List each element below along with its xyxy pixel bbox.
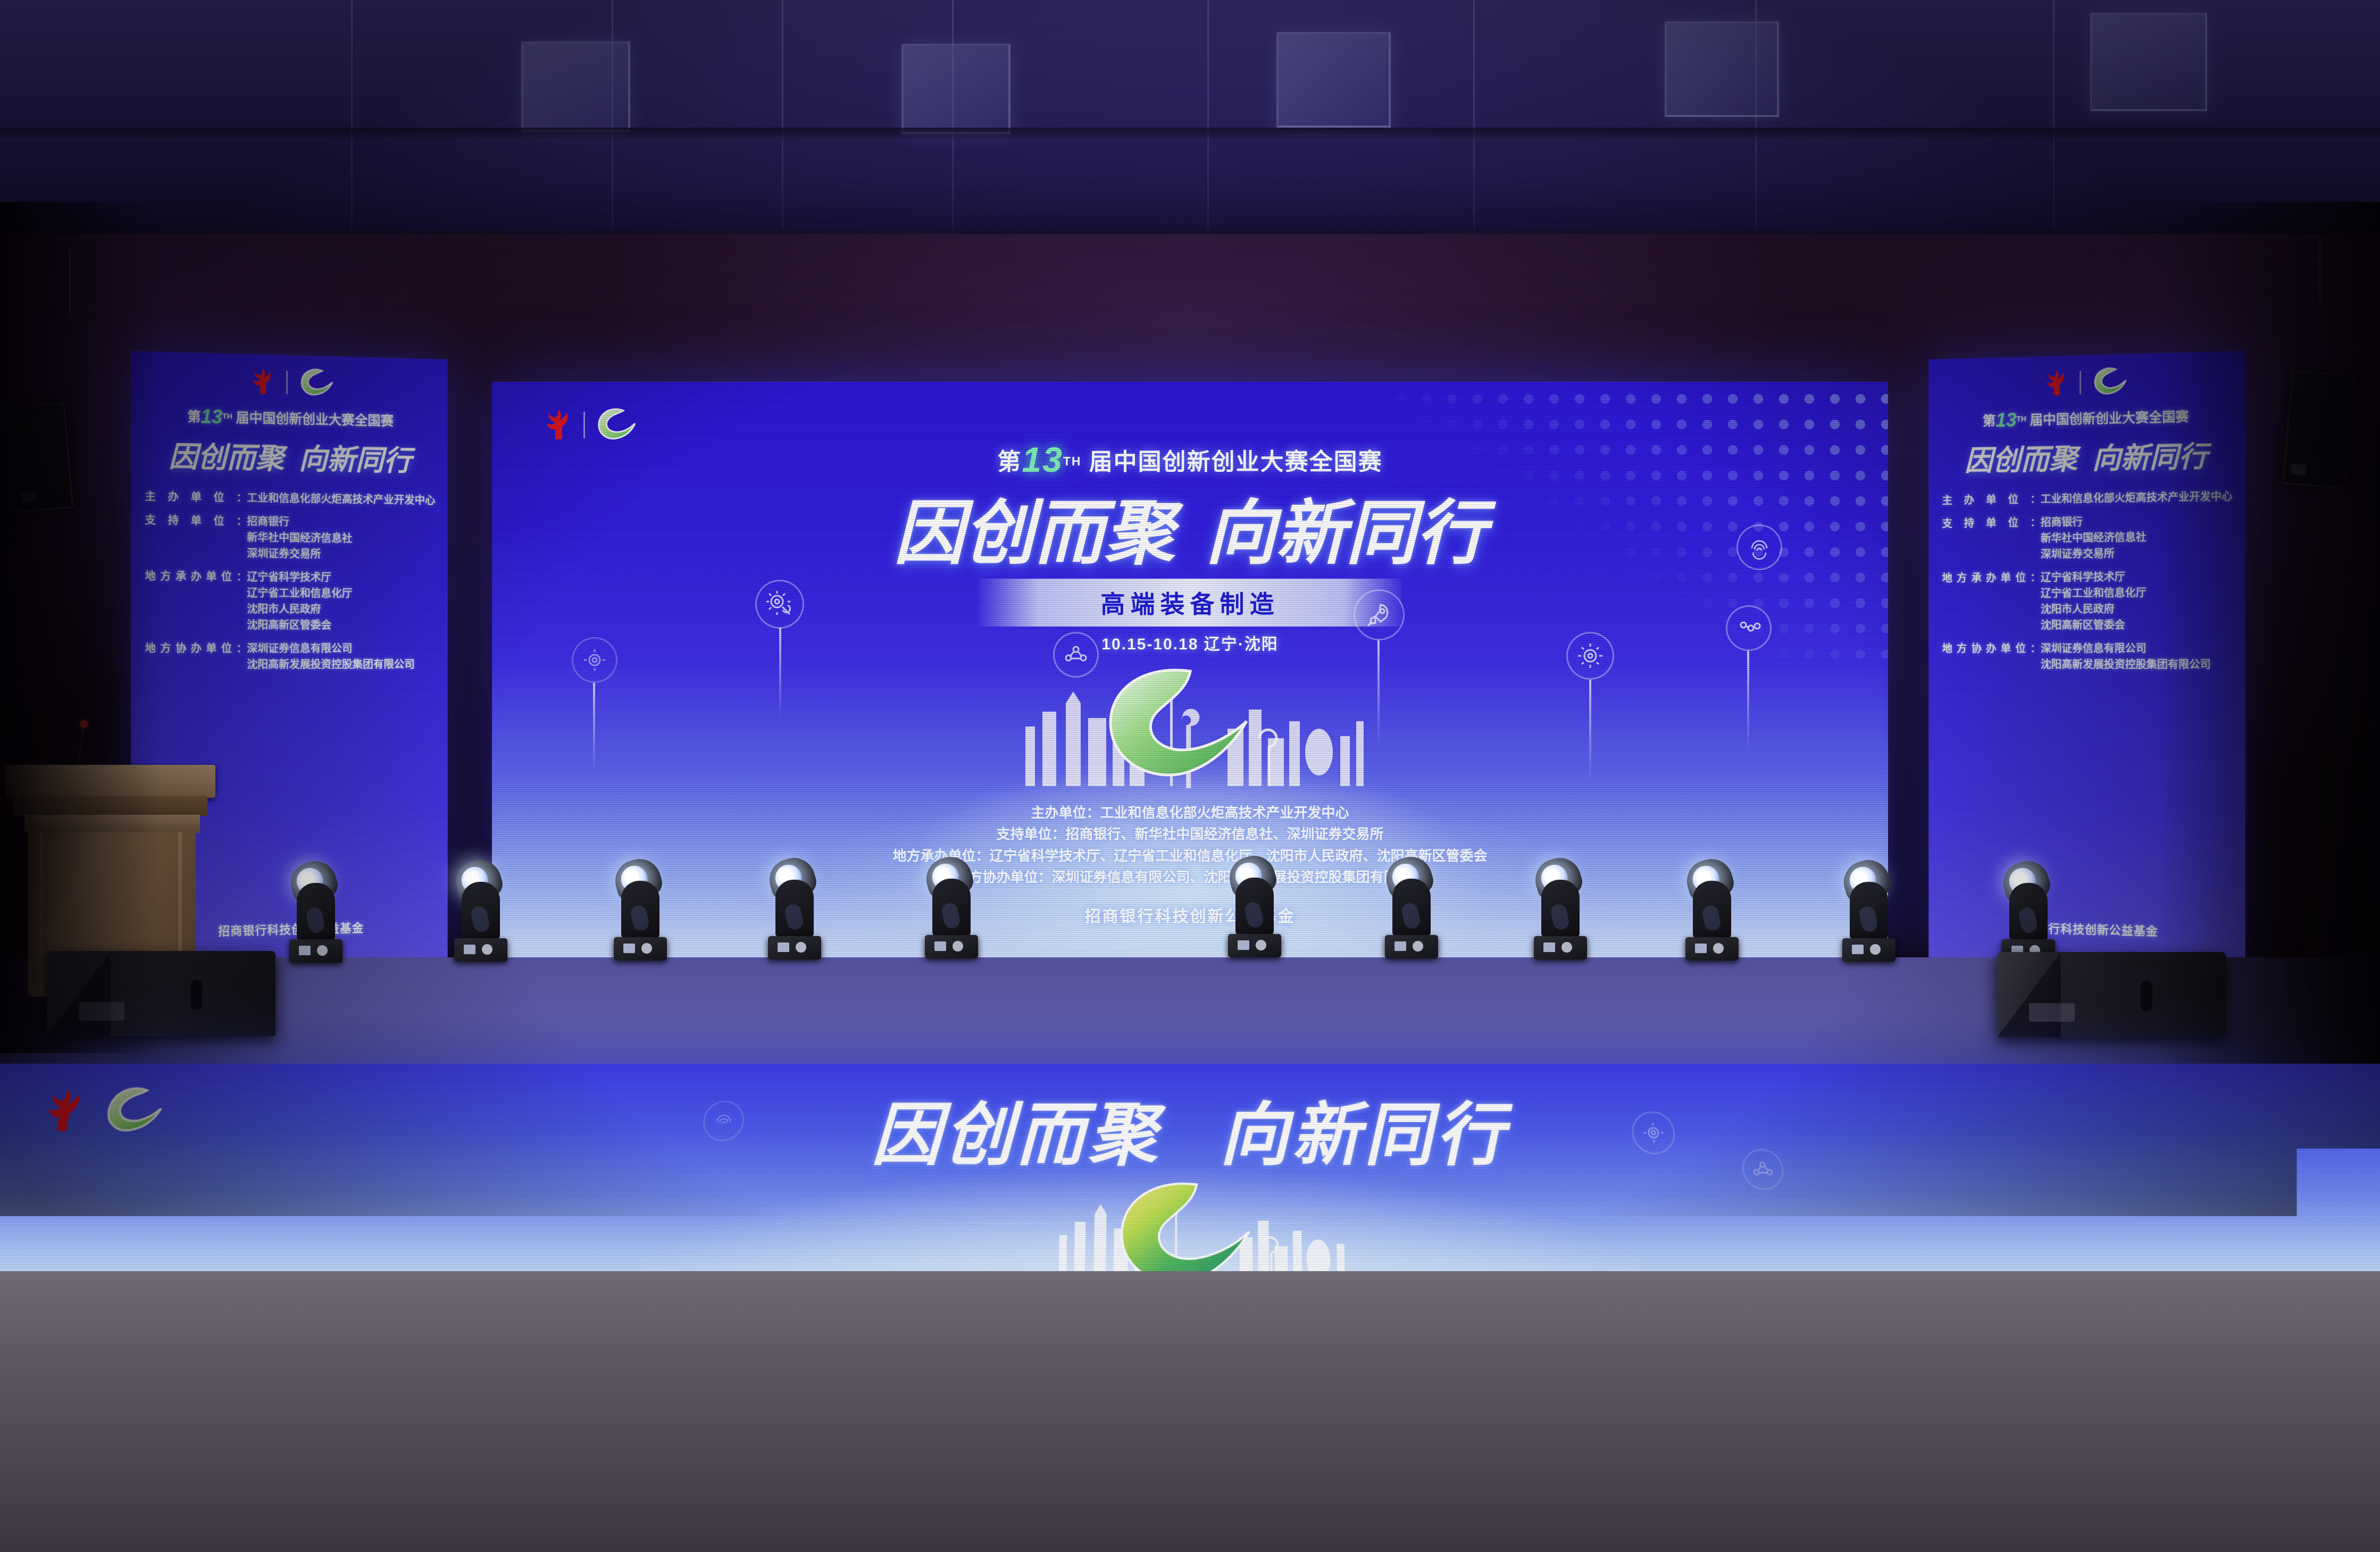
credit-value: 沈阳高新发展投资控股集团有限公司 bbox=[247, 657, 434, 673]
torch-flame-icon bbox=[2041, 369, 2070, 398]
c-innovation-icon bbox=[592, 407, 638, 443]
light-yoke bbox=[1235, 878, 1274, 936]
ceiling-light-panel bbox=[1276, 32, 1391, 128]
credit-group: 支持单位： 招商银行 新华社中国经济信息社 深圳证券交易所 bbox=[145, 512, 435, 563]
moving-head-light bbox=[923, 857, 980, 958]
logo-divider bbox=[2080, 371, 2081, 394]
torch-flame-icon bbox=[541, 408, 576, 441]
headline-right: 向新同行 bbox=[1220, 1098, 1509, 1174]
credit-line: 地方协办单位：深圳证券信息有限公司、沈阳高新发展投资控股集团有限公司 bbox=[492, 866, 1888, 888]
side-headline: 因创而聚向新同行 bbox=[131, 432, 448, 480]
credit-group: 地方承办单位： 辽宁省科学技术厅 辽宁省工业和信息化厅 沈阳市人民政府 沈阳高新… bbox=[1942, 569, 2231, 634]
credit-value: 工业和信息化部火炬高技术产业开发中心 bbox=[247, 490, 435, 509]
podium-lip bbox=[13, 796, 207, 816]
stage-front-led-strip: 因创而聚向新同行 bbox=[0, 1064, 2380, 1292]
credit-value: 沈阳高新发展投资控股集团有限公司 bbox=[2041, 657, 2232, 673]
main-screen-credits: 主办单位：工业和信息化部火炬高技术产业开发中心 支持单位：招商银行、新华社中国经… bbox=[492, 802, 1888, 888]
credit-value: 深圳证券交易所 bbox=[2041, 545, 2232, 562]
moving-head-light bbox=[2000, 862, 2057, 963]
light-yoke bbox=[1541, 880, 1580, 938]
headline-right: 向新同行 bbox=[2092, 441, 2208, 475]
moving-head-light bbox=[766, 858, 823, 959]
edition-prefix: 第 bbox=[997, 449, 1022, 475]
light-yoke bbox=[1693, 881, 1731, 939]
light-yoke bbox=[1850, 882, 1888, 940]
wall-speaker-right bbox=[2282, 370, 2354, 489]
headline-left: 因创而聚 bbox=[894, 495, 1175, 573]
edition-prefix: 第 bbox=[1983, 414, 1995, 429]
credit-label: 支持单位： bbox=[145, 512, 247, 562]
credit-value: 辽宁省科学技术厅 bbox=[247, 569, 434, 586]
edition-subtitle: 第13TH 届中国创新创业大赛全国赛 bbox=[492, 439, 1888, 480]
light-base bbox=[1685, 937, 1739, 961]
credit-group: 支持单位： 招商银行 新华社中国经济信息社 深圳证券交易所 bbox=[1942, 512, 2231, 563]
credit-value: 招商银行 bbox=[2041, 512, 2232, 530]
side-edition-subtitle: 第13TH 届中国创新创业大赛全国赛 bbox=[131, 404, 448, 433]
headline-left: 因创而聚 bbox=[871, 1098, 1160, 1174]
credit-value: 新华社中国经济信息社 bbox=[2041, 529, 2232, 547]
credit-values: 工业和信息化部火炬高技术产业开发中心 bbox=[2041, 489, 2233, 507]
moving-head-light bbox=[287, 862, 345, 963]
c-innovation-emblem bbox=[1110, 670, 1247, 775]
edition-number: 13 bbox=[1022, 440, 1063, 479]
credit-value: 沈阳市人民政府 bbox=[247, 602, 434, 618]
side-headline: 因创而聚向新同行 bbox=[1928, 432, 2245, 480]
main-screen-logo-group bbox=[541, 407, 638, 443]
credit-value: 沈阳高新区管委会 bbox=[247, 618, 434, 634]
credit-group: 地方协办单位： 深圳证券信息有限公司 沈阳高新发展投资控股集团有限公司 bbox=[1942, 641, 2231, 673]
edition-number: 13 bbox=[1995, 409, 2016, 431]
stage-monitor-right bbox=[1997, 952, 2226, 1037]
headline-right: 向新同行 bbox=[1206, 495, 1487, 573]
credit-value: 新华社中国经济信息社 bbox=[247, 530, 434, 548]
light-base bbox=[614, 937, 667, 961]
credit-value: 深圳证券信息有限公司 bbox=[2041, 641, 2232, 657]
podium-shelf bbox=[24, 815, 200, 833]
credit-line: 地方承办单位：辽宁省科学技术厅、辽宁省工业和信息化厅、沈阳市人民政府、沈阳高新区… bbox=[492, 845, 1888, 866]
light-base bbox=[1534, 936, 1587, 959]
edition-ordinal: TH bbox=[1063, 454, 1082, 468]
light-base bbox=[454, 938, 507, 962]
side-panel-logo-group bbox=[1928, 351, 2245, 402]
credit-group: 主办单位： 工业和信息化部火炬高技术产业开发中心 bbox=[1942, 489, 2231, 509]
credit-values: 深圳证券信息有限公司 沈阳高新发展投资控股集团有限公司 bbox=[2041, 641, 2232, 673]
light-base bbox=[1228, 934, 1281, 957]
edition-ordinal: TH bbox=[2017, 415, 2026, 423]
category-banner-row: 高端装备制造 bbox=[492, 579, 1888, 627]
moving-head-light bbox=[1532, 858, 1589, 959]
moving-head-light bbox=[1840, 861, 1898, 962]
credit-value: 深圳证券交易所 bbox=[247, 546, 434, 563]
main-screen-hero: 第13TH 届中国创新创业大赛全国赛 bbox=[492, 439, 1888, 480]
credit-value: 辽宁省工业和信息化厅 bbox=[2041, 585, 2232, 602]
fingerprint-icon bbox=[1736, 524, 1782, 570]
torch-flame-icon bbox=[248, 367, 278, 397]
credit-value: 招商银行 bbox=[247, 514, 434, 532]
credit-label: 地方承办单位： bbox=[145, 569, 247, 633]
credit-values: 工业和信息化部火炬高技术产业开发中心 bbox=[247, 490, 435, 509]
moving-head-light bbox=[452, 861, 510, 962]
gear-wrench-icon bbox=[755, 580, 804, 629]
light-yoke bbox=[932, 879, 971, 937]
c-emblem-skyline-group bbox=[492, 658, 1888, 794]
credit-group: 主办单位： 工业和信息化部火炬高技术产业开发中心 bbox=[145, 489, 435, 509]
wall-speaker-left bbox=[6, 402, 73, 513]
light-yoke bbox=[1392, 879, 1431, 937]
credit-value: 沈阳高新区管委会 bbox=[2041, 617, 2232, 633]
stage-scene-photo: 第13TH 届中国创新创业大赛全国赛 因创而聚向新同行 高端装备制造 10.15… bbox=[0, 0, 2380, 1552]
light-yoke bbox=[462, 882, 500, 940]
credit-label: 地方承办单位： bbox=[1942, 570, 2040, 634]
front-led-headline: 因创而聚向新同行 bbox=[0, 1080, 2380, 1179]
date-location: 10.15-10.18 辽宁·沈阳 bbox=[492, 631, 1888, 654]
light-base bbox=[925, 935, 978, 958]
credit-values: 招商银行 新华社中国经济信息社 深圳证券交易所 bbox=[2041, 512, 2232, 562]
side-edition-subtitle: 第13TH 届中国创新创业大赛全国赛 bbox=[1928, 404, 2245, 433]
credit-label: 地方协办单位： bbox=[145, 641, 247, 673]
light-yoke bbox=[621, 881, 659, 939]
moving-head-light bbox=[1226, 856, 1283, 957]
ceiling-light-panel bbox=[521, 41, 630, 132]
edition-suffix: 届中国创新创业大赛全国赛 bbox=[1089, 449, 1383, 475]
main-screen-title-row: 因创而聚向新同行 bbox=[492, 477, 1888, 578]
moving-head-light bbox=[1683, 860, 1741, 961]
cog-cluster-icon bbox=[1726, 605, 1772, 651]
credit-values: 辽宁省科学技术厅 辽宁省工业和信息化厅 沈阳市人民政府 沈阳高新区管委会 bbox=[247, 569, 434, 633]
credit-label: 支持单位： bbox=[1942, 515, 2040, 563]
ceiling-light-panel bbox=[2090, 13, 2207, 111]
monitor-connector-plate bbox=[2029, 1003, 2075, 1022]
stage-monitor-left bbox=[47, 951, 275, 1036]
side-panel-logo-group bbox=[131, 351, 448, 402]
headline-left: 因创而聚 bbox=[169, 441, 284, 475]
credit-label: 地方协办单位： bbox=[1942, 641, 2040, 673]
moving-head-light bbox=[612, 860, 669, 961]
rocket-icon bbox=[1354, 589, 1405, 640]
city-skyline-graphic bbox=[962, 658, 1419, 791]
credit-line: 支持单位：招商银行、新华社中国经济信息社、深圳证券交易所 bbox=[492, 823, 1888, 845]
light-yoke bbox=[297, 883, 335, 941]
credit-value: 沈阳市人民政府 bbox=[2041, 601, 2232, 618]
credit-label: 主办单位： bbox=[1942, 491, 2040, 508]
edition-number: 13 bbox=[201, 405, 223, 428]
date-location-row: 10.15-10.18 辽宁·沈阳 bbox=[492, 631, 1888, 654]
credit-value: 深圳证券信息有限公司 bbox=[247, 641, 434, 657]
c-innovation-icon bbox=[2089, 366, 2128, 398]
monitor-connector-plate bbox=[79, 1002, 124, 1021]
edition-ordinal: TH bbox=[222, 412, 232, 420]
edition-suffix: 届中国创新创业大赛全国赛 bbox=[236, 411, 394, 429]
edition-prefix: 第 bbox=[187, 410, 201, 425]
credit-values: 辽宁省科学技术厅 辽宁省工业和信息化厅 沈阳市人民政府 沈阳高新区管委会 bbox=[2041, 569, 2232, 633]
credit-group: 地方协办单位： 深圳证券信息有限公司 沈阳高新发展投资控股集团有限公司 bbox=[145, 641, 435, 673]
ceiling-light-panel bbox=[1665, 21, 1779, 117]
light-yoke bbox=[775, 880, 814, 938]
c-innovation-icon bbox=[296, 367, 335, 399]
edition-suffix: 届中国创新创业大赛全国赛 bbox=[2030, 410, 2189, 428]
light-yoke bbox=[2009, 883, 2048, 941]
credit-value: 辽宁省科学技术厅 bbox=[2041, 569, 2232, 586]
credit-line: 主办单位：工业和信息化部火炬高技术产业开发中心 bbox=[492, 802, 1888, 823]
credit-value: 工业和信息化部火炬高技术产业开发中心 bbox=[2041, 489, 2233, 507]
moving-head-light bbox=[1383, 857, 1440, 958]
credit-group: 地方承办单位： 辽宁省科学技术厅 辽宁省工业和信息化厅 沈阳市人民政府 沈阳高新… bbox=[145, 569, 435, 634]
light-base bbox=[1385, 935, 1438, 958]
speaker-badge bbox=[21, 492, 36, 503]
side-credits: 主办单位： 工业和信息化部火炬高技术产业开发中心 支持单位： 招商银行 新华社中… bbox=[1928, 489, 2245, 673]
ceiling bbox=[0, 0, 2380, 250]
category-banner: 高端装备制造 bbox=[979, 579, 1402, 627]
main-led-screen: 第13TH 届中国创新创业大赛全国赛 因创而聚向新同行 高端装备制造 10.15… bbox=[492, 382, 1888, 962]
logo-divider bbox=[286, 371, 288, 394]
credit-label: 主办单位： bbox=[145, 489, 247, 506]
headline-left: 因创而聚 bbox=[1965, 443, 2077, 477]
speaker-badge bbox=[2291, 464, 2307, 475]
logo-divider bbox=[583, 412, 585, 438]
light-base bbox=[768, 936, 821, 959]
c-innovation-emblem bbox=[1121, 1184, 1249, 1283]
light-base bbox=[1842, 938, 1895, 962]
main-screen-fund-line: 招商银行科技创新公益基金 bbox=[492, 903, 1888, 927]
side-fund-line: 招商银行科技创新公益基金 bbox=[1928, 916, 2245, 941]
ceiling-light-panel bbox=[901, 44, 1011, 134]
light-base bbox=[289, 939, 343, 963]
credit-values: 深圳证券信息有限公司 沈阳高新发展投资控股集团有限公司 bbox=[247, 641, 434, 673]
right-side-led-panel: 第13TH 届中国创新创业大赛全国赛 因创而聚向新同行 主办单位： 工业和信息化… bbox=[1928, 351, 2245, 966]
headline-right: 向新同行 bbox=[299, 443, 412, 477]
hall-floor-foreground bbox=[0, 1271, 2380, 1552]
credit-value: 辽宁省工业和信息化厅 bbox=[247, 585, 434, 602]
credit-values: 招商银行 新华社中国经济信息社 深圳证券交易所 bbox=[247, 514, 434, 563]
side-credits: 主办单位： 工业和信息化部火炬高技术产业开发中心 支持单位： 招商银行 新华社中… bbox=[131, 489, 448, 673]
podium-top bbox=[5, 765, 215, 798]
